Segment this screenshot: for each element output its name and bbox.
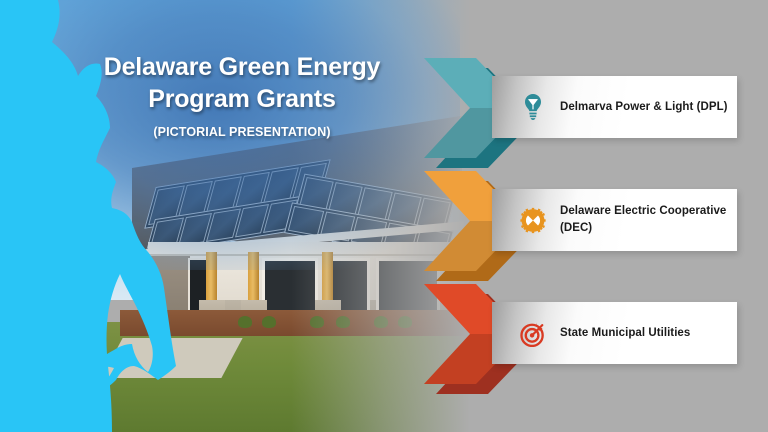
list-item[interactable]: State Municipal Utilities xyxy=(424,278,754,396)
target-icon xyxy=(520,318,546,348)
card-label: Delmarva Power & Light (DPL) xyxy=(560,99,728,116)
title-block: Delaware Green Energy Program Grants (PI… xyxy=(86,52,398,139)
list-item[interactable]: Delmarva Power & Light (DPL) xyxy=(424,52,754,170)
page-title-line-2: Program Grants xyxy=(86,84,398,116)
list-item[interactable]: Delaware Electric Cooperative (DEC) xyxy=(424,165,754,283)
card-label: State Municipal Utilities xyxy=(560,325,690,342)
lightbulb-icon xyxy=(520,92,546,122)
card-dpl[interactable]: Delmarva Power & Light (DPL) xyxy=(492,76,737,138)
gear-icon xyxy=(520,205,546,235)
page-title-line-1: Delaware Green Energy xyxy=(86,52,398,84)
page-subtitle: (PICTORIAL PRESENTATION) xyxy=(86,125,398,139)
card-state-municipal[interactable]: State Municipal Utilities xyxy=(492,302,737,364)
card-dec[interactable]: Delaware Electric Cooperative (DEC) xyxy=(492,189,737,251)
card-label: Delaware Electric Cooperative (DEC) xyxy=(560,203,735,236)
slide-canvas: Delaware Green Energy Program Grants (PI… xyxy=(0,0,768,432)
